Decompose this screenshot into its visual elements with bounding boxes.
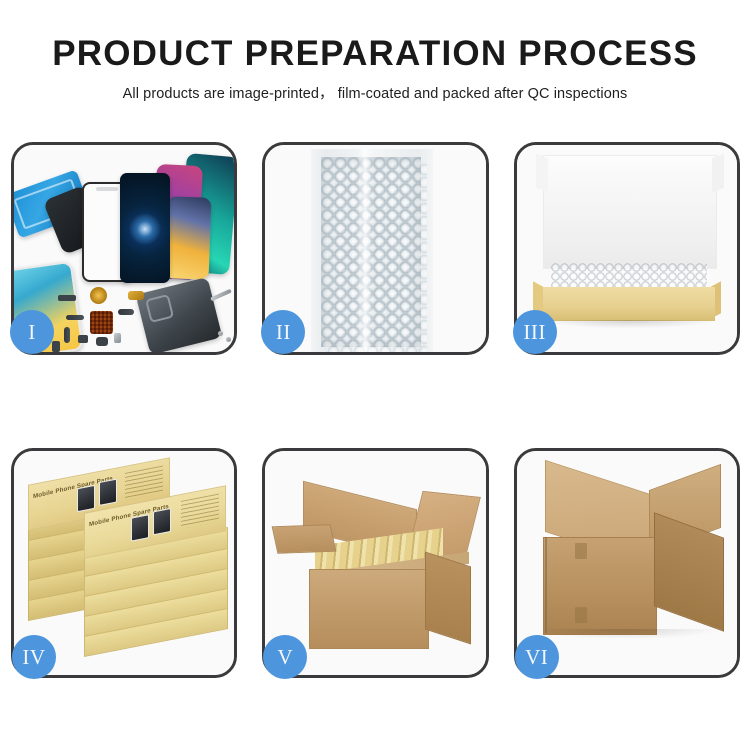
sealed-carton-tab-bottom (575, 607, 587, 623)
box-screen-print-front-1 (131, 514, 149, 541)
inner-box-contents-bubble (551, 263, 707, 289)
part-speaker (78, 335, 88, 343)
step-panel-2[interactable]: II (262, 142, 488, 355)
sealed-carton-front-face (543, 537, 657, 635)
process-row-bottom: Mobile Phone Spare Parts Mobile Phone Sp… (11, 448, 740, 678)
bubble-wrap-bubbles-overlay (327, 163, 427, 352)
part-flex-cable-3 (118, 309, 134, 315)
process-row-top: I II (11, 142, 740, 355)
step-numeral-1: I (28, 322, 36, 343)
box-screen-print-back-1 (77, 485, 95, 512)
inner-box-lid (543, 155, 717, 269)
step-numeral-2: II (276, 322, 291, 343)
step-panel-1[interactable]: I (11, 142, 237, 355)
part-tweezers (210, 289, 232, 302)
step-badge-5: V (263, 635, 307, 679)
page-subtitle: All products are image-printed， film-coa… (0, 73, 750, 103)
carton-body-side (425, 552, 471, 645)
part-camera-module (96, 337, 108, 346)
part-gold-bracket (128, 291, 144, 300)
part-battery-strip (58, 295, 76, 301)
step-numeral-4: IV (22, 647, 45, 668)
part-sim-tray (52, 341, 60, 352)
step-panel-6[interactable]: VI (514, 448, 740, 678)
part-wireless-coil (90, 287, 107, 304)
box-screen-print-front-2 (153, 508, 171, 535)
part-flex-cable-2 (64, 327, 70, 343)
part-chip-array (90, 311, 113, 334)
box-spec-lines-front (181, 494, 219, 529)
bubble-wrap-highlight (357, 149, 373, 352)
page-title: PRODUCT PREPARATION PROCESS (0, 0, 750, 73)
part-screw-1 (218, 331, 223, 336)
header: PRODUCT PREPARATION PROCESS All products… (0, 0, 750, 103)
process-steps-grid: I II (11, 142, 740, 678)
step-badge-2: II (261, 310, 305, 354)
step-panel-4[interactable]: Mobile Phone Spare Parts Mobile Phone Sp… (11, 448, 237, 678)
box-screen-print-back-2 (99, 479, 117, 506)
product-preparation-infographic: PRODUCT PREPARATION PROCESS All products… (0, 0, 750, 750)
step-numeral-6: VI (525, 647, 548, 668)
inner-box-shadow (547, 320, 711, 328)
carton-body-front (309, 569, 429, 649)
box-stack: Mobile Phone Spare Parts Mobile Phone Sp… (22, 465, 232, 665)
step-badge-4: IV (12, 635, 56, 679)
step-panel-3[interactable]: III (514, 142, 740, 355)
sealed-carton-seam (545, 537, 547, 633)
step-badge-3: III (513, 310, 557, 354)
step-numeral-5: V (277, 647, 293, 668)
part-flex-cable-1 (66, 315, 84, 320)
part-metal-shield (114, 333, 121, 343)
box-spec-lines-back (125, 466, 163, 501)
inner-box-front-panel (543, 287, 715, 321)
step-badge-6: VI (515, 635, 559, 679)
step-numeral-3: III (523, 322, 545, 343)
phone-swirl-wallpaper (120, 173, 170, 283)
phone-back-housing (136, 277, 223, 352)
sealed-carton-tab-top (575, 543, 587, 559)
step-panel-5[interactable]: V (262, 448, 488, 678)
carton-flap-left (272, 524, 337, 553)
part-screw-2 (226, 337, 231, 342)
step-badge-1: I (10, 310, 54, 354)
sealed-carton-shadow (549, 629, 719, 639)
phone-gold (165, 196, 212, 279)
